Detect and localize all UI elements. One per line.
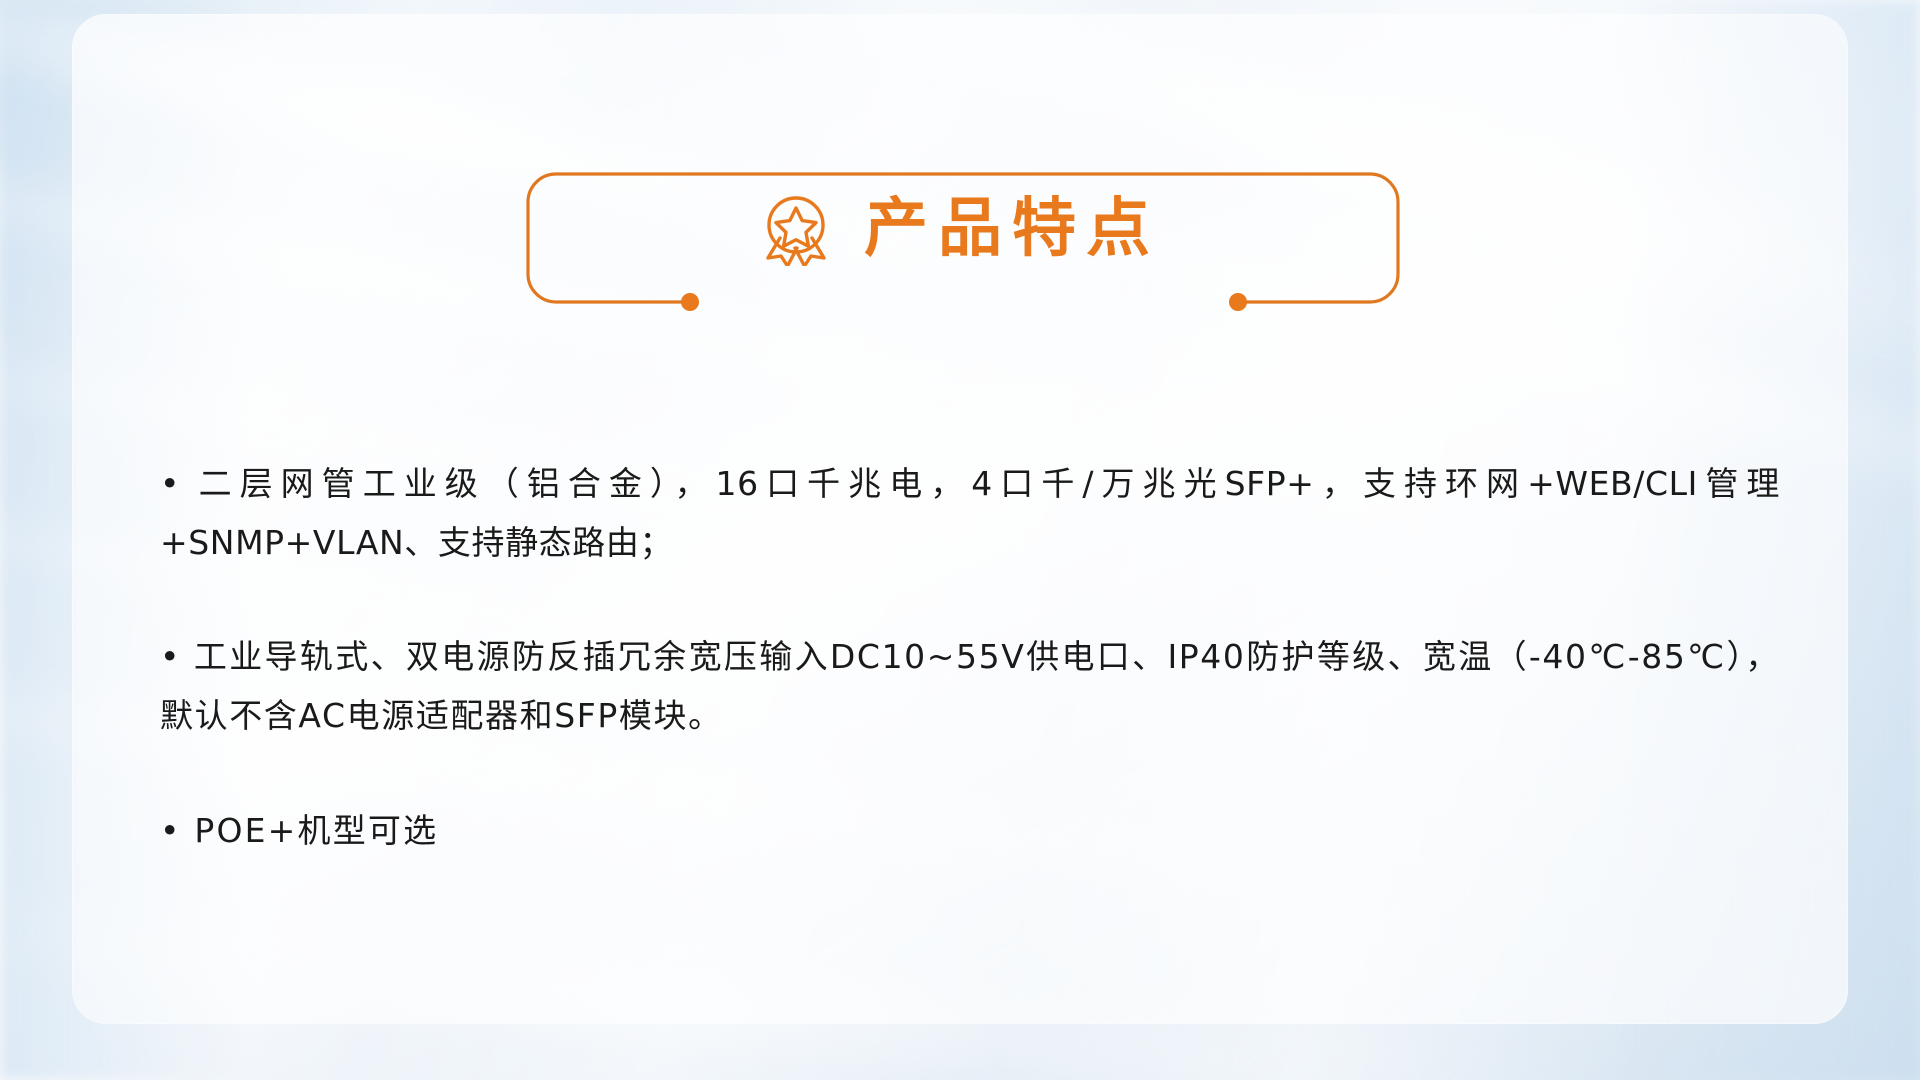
left-dot-icon — [681, 293, 699, 311]
list-item: • 二层网管工业级（铝合金），16口千兆电，4口千/万兆光SFP+，支持环网+W… — [160, 455, 1780, 572]
list-item: • 工业导轨式、双电源防反插冗余宽压输入DC10~55V供电口、IP40防护等级… — [160, 628, 1780, 745]
list-item: • POE+机型可选 — [160, 802, 1780, 861]
feature-list: • 二层网管工业级（铝合金），16口千兆电，4口千/万兆光SFP+，支持环网+W… — [160, 455, 1780, 861]
page-title: 产品特点 — [854, 197, 1160, 261]
award-medal-icon — [760, 192, 832, 266]
section-header: 产品特点 — [0, 160, 1920, 320]
right-dot-icon — [1229, 293, 1247, 311]
